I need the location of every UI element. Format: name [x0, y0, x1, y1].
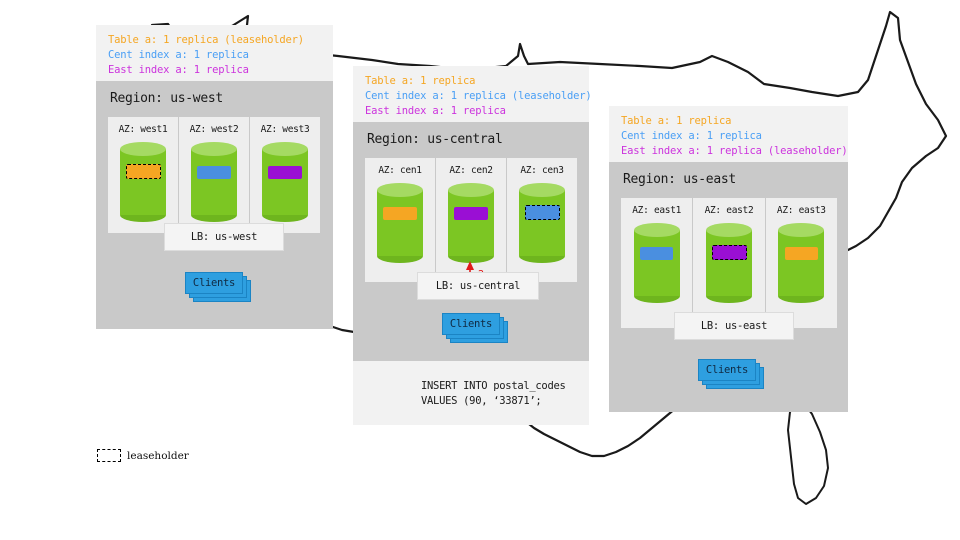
- load-balancer-us-east[interactable]: LB: us-east: [674, 312, 794, 340]
- az-cell-cen3[interactable]: AZ: cen3: [506, 158, 577, 282]
- replica-line-table: Table a: 1 replica: [621, 114, 836, 129]
- load-balancer-us-central[interactable]: LB: us-central: [417, 272, 539, 300]
- node-cylinder-icon[interactable]: [706, 223, 752, 303]
- replica-summary-us-central: Table a: 1 replicaCent index a: 1 replic…: [353, 66, 589, 122]
- clients-label: Clients: [193, 277, 235, 289]
- az-label: AZ: cen1: [378, 165, 421, 176]
- node-cylinder-icon[interactable]: [120, 142, 166, 222]
- replica-bar-cent_index: [640, 247, 673, 260]
- region-card-us-west: Table a: 1 replica (leaseholder)Cent ind…: [96, 25, 333, 329]
- az-label: AZ: west1: [119, 124, 168, 135]
- az-cell-west2[interactable]: AZ: west2: [178, 117, 249, 233]
- sql-line-2: VALUES (90, ‘33871’;: [421, 394, 566, 409]
- az-cell-west1[interactable]: AZ: west1: [108, 117, 178, 233]
- node-cylinder-icon[interactable]: [448, 183, 494, 263]
- node-cylinder-icon[interactable]: [262, 142, 308, 222]
- dashed-rect-icon: [97, 449, 121, 462]
- az-cell-west3[interactable]: AZ: west3: [249, 117, 320, 233]
- cylinder-body: [262, 149, 308, 215]
- replica-line-cent_index: Cent index a: 1 replica (leaseholder): [365, 89, 577, 104]
- region-body-us-central: Region: us-centralAZ: cen1AZ: cen22AZ: c…: [353, 122, 589, 361]
- replica-bar-east_index-leaseholder: [712, 245, 747, 260]
- replica-summary-us-west: Table a: 1 replica (leaseholder)Cent ind…: [96, 25, 333, 81]
- region-title-us-east: Region: us-east: [609, 162, 848, 187]
- node-cylinder-icon[interactable]: [634, 223, 680, 303]
- cylinder-body: [120, 149, 166, 215]
- replica-summary-us-east: Table a: 1 replicaCent index a: 1 replic…: [609, 106, 848, 162]
- replica-bar-east_index: [454, 207, 487, 220]
- clients-card-front[interactable]: Clients: [442, 313, 500, 335]
- cylinder-body: [377, 190, 423, 256]
- cylinder-top: [778, 223, 824, 237]
- clients-group-us-east[interactable]: Clients: [698, 359, 760, 385]
- replica-bar-table-leaseholder: [126, 164, 161, 179]
- az-strip-us-west: AZ: west1AZ: west2AZ: west3: [108, 117, 320, 233]
- region-card-us-east: Table a: 1 replicaCent index a: 1 replic…: [609, 106, 848, 412]
- az-cell-cen2[interactable]: AZ: cen22: [435, 158, 506, 282]
- az-cell-east2[interactable]: AZ: east2: [692, 198, 764, 328]
- az-cell-cen1[interactable]: AZ: cen1: [365, 158, 435, 282]
- az-label: AZ: west3: [261, 124, 310, 135]
- cylinder-body: [519, 190, 565, 256]
- az-cell-east1[interactable]: AZ: east1: [621, 198, 692, 328]
- cylinder-top: [706, 223, 752, 237]
- cylinder-top: [262, 142, 308, 156]
- region-body-us-east: Region: us-eastAZ: east1AZ: east2AZ: eas…: [609, 162, 848, 412]
- region-title-us-west: Region: us-west: [96, 81, 333, 106]
- replica-line-east_index: East index a: 1 replica: [365, 104, 577, 119]
- sql-statement: INSERT INTO postal_codes VALUES (90, ‘33…: [421, 379, 566, 408]
- legend-label: leaseholder: [127, 450, 189, 462]
- az-strip-us-east: AZ: east1AZ: east2AZ: east3: [621, 198, 837, 328]
- az-label: AZ: cen2: [449, 165, 492, 176]
- load-balancer-us-west[interactable]: LB: us-west: [164, 223, 284, 251]
- cylinder-body: [706, 230, 752, 296]
- cylinder-top: [191, 142, 237, 156]
- az-label: AZ: east1: [632, 205, 681, 216]
- az-cell-east3[interactable]: AZ: east3: [765, 198, 837, 328]
- clients-label: Clients: [706, 364, 748, 376]
- cylinder-top: [519, 183, 565, 197]
- cylinder-top: [377, 183, 423, 197]
- replica-line-cent_index: Cent index a: 1 replica: [621, 129, 836, 144]
- az-label: AZ: east2: [705, 205, 754, 216]
- az-strip-us-central: AZ: cen1AZ: cen22AZ: cen3: [365, 158, 577, 282]
- region-body-us-west: Region: us-westAZ: west1AZ: west2AZ: wes…: [96, 81, 333, 329]
- load-balancer-label: LB: us-central: [436, 280, 520, 292]
- replica-line-table: Table a: 1 replica (leaseholder): [108, 33, 321, 48]
- region-title-us-central: Region: us-central: [353, 122, 589, 147]
- clients-card-front[interactable]: Clients: [698, 359, 756, 381]
- cylinder-body: [634, 230, 680, 296]
- region-card-us-central: Table a: 1 replicaCent index a: 1 replic…: [353, 66, 589, 425]
- cylinder-body: [778, 230, 824, 296]
- diagram-canvas: Table a: 1 replica (leaseholder)Cent ind…: [0, 0, 960, 540]
- cylinder-top: [634, 223, 680, 237]
- replica-line-east_index: East index a: 1 replica (leaseholder): [621, 144, 836, 159]
- replica-line-table: Table a: 1 replica: [365, 74, 577, 89]
- az-label: AZ: cen3: [520, 165, 563, 176]
- replica-line-cent_index: Cent index a: 1 replica: [108, 48, 321, 63]
- replica-bar-table: [383, 207, 416, 220]
- replica-line-east_index: East index a: 1 replica: [108, 63, 321, 78]
- us-map-florida: [788, 398, 828, 504]
- legend: leaseholder: [97, 449, 189, 462]
- node-cylinder-icon[interactable]: [191, 142, 237, 222]
- node-cylinder-icon[interactable]: [519, 183, 565, 263]
- load-balancer-label: LB: us-east: [701, 320, 767, 332]
- replica-bar-table: [785, 247, 818, 260]
- clients-group-us-central[interactable]: Clients: [442, 313, 504, 339]
- cylinder-top: [448, 183, 494, 197]
- cylinder-top: [120, 142, 166, 156]
- az-label: AZ: west2: [190, 124, 239, 135]
- load-balancer-label: LB: us-west: [191, 231, 257, 243]
- cylinder-body: [191, 149, 237, 215]
- sql-line-1: INSERT INTO postal_codes: [421, 379, 566, 394]
- replica-bar-cent_index-leaseholder: [525, 205, 560, 220]
- node-cylinder-icon[interactable]: [377, 183, 423, 263]
- az-label: AZ: east3: [777, 205, 826, 216]
- clients-label: Clients: [450, 318, 492, 330]
- clients-group-us-west[interactable]: Clients: [185, 272, 247, 298]
- node-cylinder-icon[interactable]: [778, 223, 824, 303]
- clients-card-front[interactable]: Clients: [185, 272, 243, 294]
- cylinder-body: [448, 190, 494, 256]
- replica-bar-east_index: [268, 166, 301, 179]
- replica-bar-cent_index: [197, 166, 230, 179]
